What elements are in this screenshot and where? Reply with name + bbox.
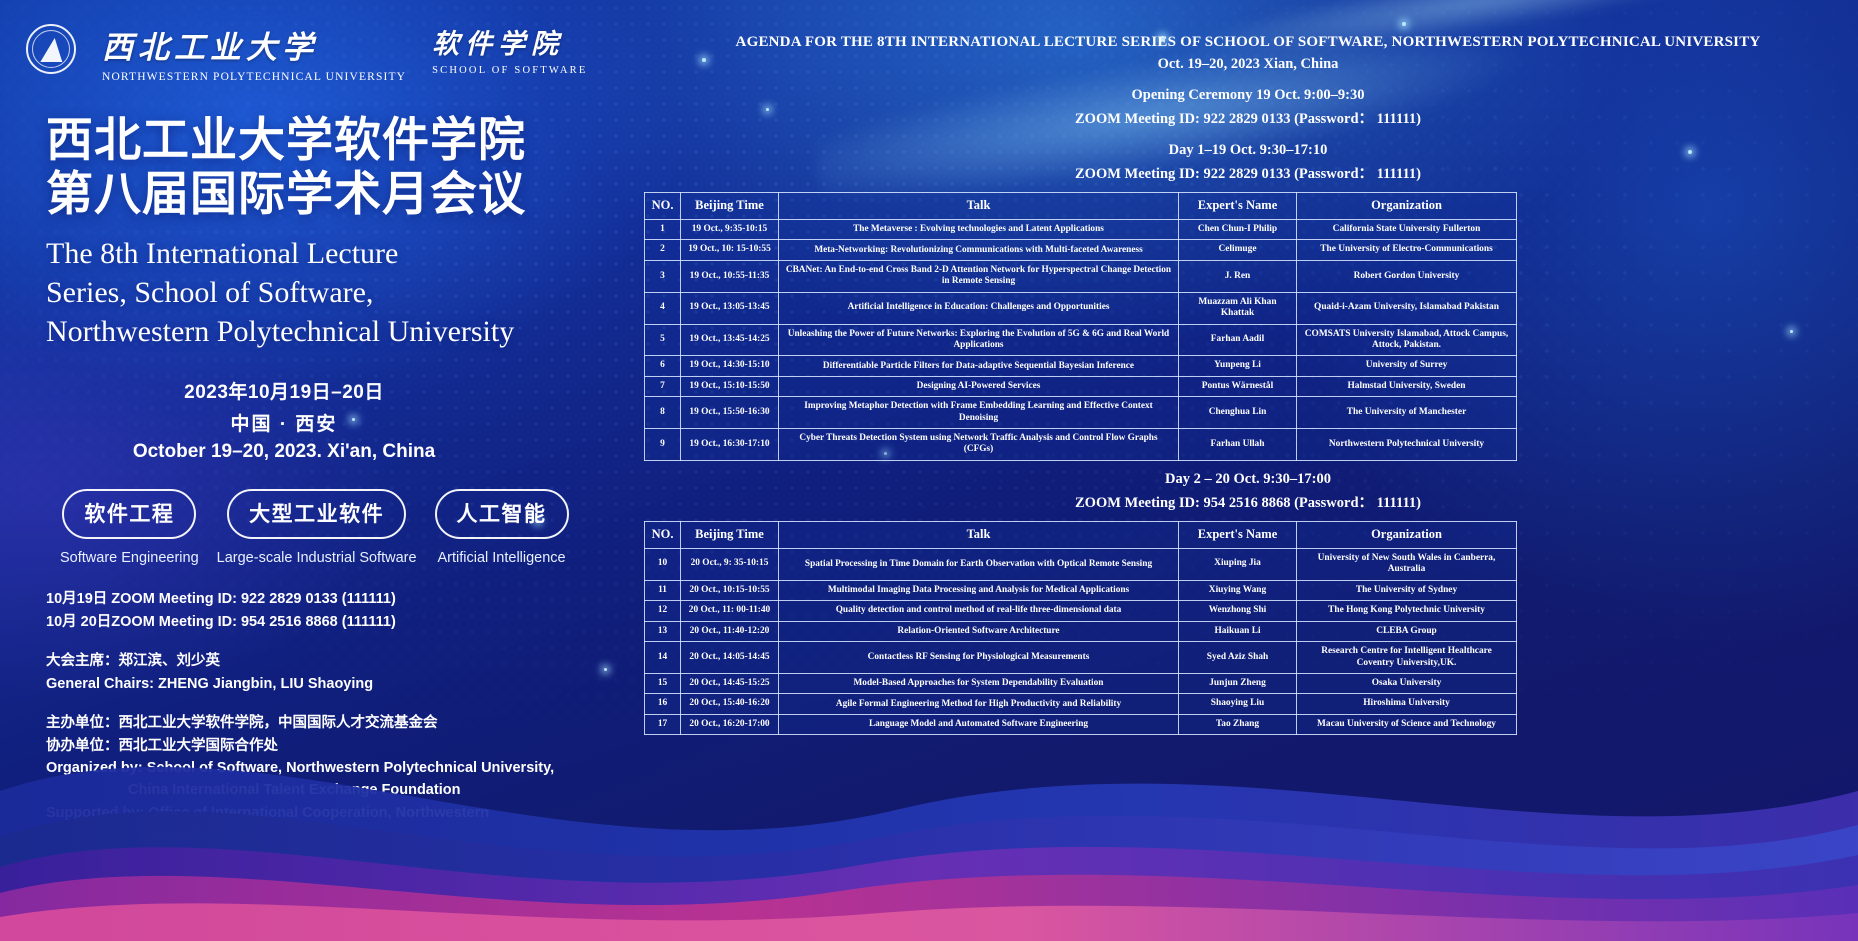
day2-zoom: ZOOM Meeting ID: 954 2516 8868 (Password… <box>638 491 1858 512</box>
column-header-expert: Expert's Name <box>1179 521 1297 548</box>
cell-organization: Macau University of Science and Technolo… <box>1297 714 1517 734</box>
cell-talk: Relation-Oriented Software Architecture <box>779 621 1179 641</box>
topic-item: 软件工程 Software Engineering <box>60 489 199 566</box>
column-header-time: Beijing Time <box>681 521 779 548</box>
cell-expert: Tao Zhang <box>1179 714 1297 734</box>
table-row: 1020 Oct., 9: 35-10:15Spatial Processing… <box>645 548 1517 580</box>
cell-talk: Cyber Threats Detection System using Net… <box>779 429 1179 461</box>
cell-organization: University of New South Wales in Canberr… <box>1297 548 1517 580</box>
day1-header: Day 1–19 Oct. 9:30–17:10 ZOOM Meeting ID… <box>638 142 1858 183</box>
cell-expert: Junjun Zheng <box>1179 674 1297 694</box>
cell-talk: Contactless RF Sensing for Physiological… <box>779 642 1179 674</box>
table-row: 919 Oct., 16:30-17:10Cyber Threats Detec… <box>645 429 1517 461</box>
cell-time: 20 Oct., 15:40-16:20 <box>681 694 779 714</box>
cell-expert: Farhan Ullah <box>1179 429 1297 461</box>
poster-title-en-line1: The 8th International Lecture <box>46 234 640 273</box>
cell-talk: The Metaverse : Evolving technologies an… <box>779 220 1179 240</box>
general-chairs-group: 大会主席：郑江滨、刘少英 General Chairs: ZHENG Jiang… <box>46 650 640 695</box>
topic-pill-en: Software Engineering <box>60 550 199 566</box>
general-chairs-en: General Chairs: ZHENG Jiangbin, LIU Shao… <box>46 673 640 695</box>
co-organizer-cn: 协办单位：西北工业大学国际合作处 <box>46 735 640 757</box>
poster-title-cn: 西北工业大学软件学院 第八届国际学术月会议 <box>46 113 640 220</box>
cell-no: 5 <box>645 324 681 356</box>
cell-no: 11 <box>645 580 681 600</box>
cell-no: 15 <box>645 674 681 694</box>
cell-talk: Meta-Networking: Revolutionizing Communi… <box>779 240 1179 260</box>
cell-time: 19 Oct., 9:35-10:15 <box>681 220 779 240</box>
cell-time: 19 Oct., 13:05-13:45 <box>681 292 779 324</box>
cell-talk: Quality detection and control method of … <box>779 601 1179 621</box>
topic-item: 大型工业软件 Large-scale Industrial Software <box>217 489 417 566</box>
cell-organization: University of Surrey <box>1297 356 1517 376</box>
zoom-info-line-2: 10月 20日ZOOM Meeting ID: 954 2516 8868 (1… <box>46 611 640 633</box>
cell-talk: Unleashing the Power of Future Networks:… <box>779 324 1179 356</box>
cell-organization: Northwestern Polytechnical University <box>1297 429 1517 461</box>
cell-organization: CLEBA Group <box>1297 621 1517 641</box>
table-row: 319 Oct., 10:55-11:35CBANet: An End-to-e… <box>645 260 1517 292</box>
table-header-row: NO. Beijing Time Talk Expert's Name Orga… <box>645 193 1517 220</box>
cell-no: 13 <box>645 621 681 641</box>
cell-talk: Differentiable Particle Filters for Data… <box>779 356 1179 376</box>
cell-expert: Xiuying Wang <box>1179 580 1297 600</box>
cell-organization: The University of Sydney <box>1297 580 1517 600</box>
agenda-table-day2-body: 1020 Oct., 9: 35-10:15Spatial Processing… <box>645 548 1517 735</box>
university-name-en: NORTHWESTERN POLYTECHNICAL UNIVERSITY <box>102 71 406 83</box>
topic-item: 人工智能 Artificial Intelligence <box>435 489 569 566</box>
cell-no: 17 <box>645 714 681 734</box>
agenda-table-day1-body: 119 Oct., 9:35-10:15The Metaverse : Evol… <box>645 220 1517 461</box>
cell-time: 20 Oct., 14:45-15:25 <box>681 674 779 694</box>
event-date-cn: 2023年10月19日–20日 <box>24 377 544 404</box>
cell-expert: Muazzam Ali Khan Khattak <box>1179 292 1297 324</box>
topic-pill-en: Artificial Intelligence <box>437 550 565 566</box>
table-header-row: NO. Beijing Time Talk Expert's Name Orga… <box>645 521 1517 548</box>
school-name-en: SCHOOL OF SOFTWARE <box>432 65 587 76</box>
cell-time: 20 Oct., 9: 35-10:15 <box>681 548 779 580</box>
cell-time: 20 Oct., 11:40-12:20 <box>681 621 779 641</box>
cell-no: 4 <box>645 292 681 324</box>
topic-pill-cn: 大型工业软件 <box>227 489 406 539</box>
topic-pill-cn: 软件工程 <box>62 489 196 539</box>
cell-expert: Farhan Aadil <box>1179 324 1297 356</box>
organized-by-en-cont: China International Talent Exchange Foun… <box>46 779 640 801</box>
cell-no: 6 <box>645 356 681 376</box>
table-row: 1420 Oct., 14:05-14:45Contactless RF Sen… <box>645 642 1517 674</box>
column-header-talk: Talk <box>779 193 1179 220</box>
university-seal-icon <box>26 24 76 74</box>
cell-organization: The University of Electro-Communications <box>1297 240 1517 260</box>
cell-talk: Model-Based Approaches for System Depend… <box>779 674 1179 694</box>
cell-expert: Yunpeng Li <box>1179 356 1297 376</box>
cell-talk: CBANet: An End-to-end Cross Band 2-D Att… <box>779 260 1179 292</box>
table-row: 1320 Oct., 11:40-12:20Relation-Oriented … <box>645 621 1517 641</box>
cell-time: 20 Oct., 10:15-10:55 <box>681 580 779 600</box>
cell-no: 12 <box>645 601 681 621</box>
cell-no: 3 <box>645 260 681 292</box>
poster-left-panel: 西北工业大学 NORTHWESTERN POLYTECHNICAL UNIVER… <box>0 0 640 941</box>
cell-expert: Wenzhong Shi <box>1179 601 1297 621</box>
cell-talk: Designing AI-Powered Services <box>779 376 1179 396</box>
cell-organization: Halmstad University, Sweden <box>1297 376 1517 396</box>
column-header-expert: Expert's Name <box>1179 193 1297 220</box>
day2-title: Day 2 – 20 Oct. 9:30–17:00 <box>638 471 1858 488</box>
cell-no: 7 <box>645 376 681 396</box>
cell-no: 2 <box>645 240 681 260</box>
cell-talk: Multimodal Imaging Data Processing and A… <box>779 580 1179 600</box>
cell-no: 9 <box>645 429 681 461</box>
organized-by-en: Organized by: School of Software, Northw… <box>46 757 640 779</box>
cell-time: 19 Oct., 14:30-15:10 <box>681 356 779 376</box>
table-row: 719 Oct., 15:10-15:50Designing AI-Powere… <box>645 376 1517 396</box>
cell-time: 20 Oct., 14:05-14:45 <box>681 642 779 674</box>
logo-row: 西北工业大学 NORTHWESTERN POLYTECHNICAL UNIVER… <box>24 22 640 83</box>
cell-no: 10 <box>645 548 681 580</box>
cell-time: 19 Oct., 10:55-11:35 <box>681 260 779 292</box>
topic-pill-cn: 人工智能 <box>435 489 569 539</box>
poster-title-cn-line2: 第八届国际学术月会议 <box>46 167 640 221</box>
cell-expert: Haikuan Li <box>1179 621 1297 641</box>
table-row: 1120 Oct., 10:15-10:55Multimodal Imaging… <box>645 580 1517 600</box>
opening-ceremony-line: Opening Ceremony 19 Oct. 9:00–9:30 <box>638 87 1858 104</box>
poster-info-block: 10月19日 ZOOM Meeting ID: 922 2829 0133 (1… <box>46 588 640 847</box>
table-row: 1620 Oct., 15:40-16:20Agile Formal Engin… <box>645 694 1517 714</box>
cell-talk: Agile Formal Engineering Method for High… <box>779 694 1179 714</box>
topic-pill-en: Large-scale Industrial Software <box>217 550 417 566</box>
table-row: 119 Oct., 9:35-10:15The Metaverse : Evol… <box>645 220 1517 240</box>
cell-expert: Chen Chun-I Philip <box>1179 220 1297 240</box>
agenda-header-line-1: AGENDA FOR THE 8TH INTERNATIONAL LECTURE… <box>638 34 1858 51</box>
cell-talk: Artificial Intelligence in Education: Ch… <box>779 292 1179 324</box>
university-name-cn: 西北工业大学 <box>102 22 406 67</box>
poster-title-en: The 8th International Lecture Series, Sc… <box>46 234 640 351</box>
cell-expert: Syed Aziz Shah <box>1179 642 1297 674</box>
cell-time: 19 Oct., 16:30-17:10 <box>681 429 779 461</box>
cell-organization: Quaid-i-Azam University, Islamabad Pakis… <box>1297 292 1517 324</box>
cell-expert: Celimuge <box>1179 240 1297 260</box>
cell-organization: Robert Gordon University <box>1297 260 1517 292</box>
poster-right-panel: AGENDA FOR THE 8TH INTERNATIONAL LECTURE… <box>638 0 1858 941</box>
cell-organization: Research Centre for Intelligent Healthca… <box>1297 642 1517 674</box>
table-row: 819 Oct., 15:50-16:30Improving Metaphor … <box>645 397 1517 429</box>
table-row: 419 Oct., 13:05-13:45Artificial Intellig… <box>645 292 1517 324</box>
poster-title-cn-line1: 西北工业大学软件学院 <box>46 113 640 167</box>
day2-header: Day 2 – 20 Oct. 9:30–17:00 ZOOM Meeting … <box>638 471 1858 512</box>
cell-expert: Chenghua Lin <box>1179 397 1297 429</box>
cell-no: 8 <box>645 397 681 429</box>
cell-organization: COMSATS University Islamabad, Attock Cam… <box>1297 324 1517 356</box>
cell-no: 16 <box>645 694 681 714</box>
cell-time: 20 Oct., 11: 00-11:40 <box>681 601 779 621</box>
conference-poster: 西北工业大学 NORTHWESTERN POLYTECHNICAL UNIVER… <box>0 0 1858 941</box>
university-logo: 西北工业大学 NORTHWESTERN POLYTECHNICAL UNIVER… <box>102 22 406 83</box>
cell-organization: Osaka University <box>1297 674 1517 694</box>
cell-no: 1 <box>645 220 681 240</box>
event-place-cn: 中国 · 西安 <box>24 409 544 436</box>
table-row: 619 Oct., 14:30-15:10Differentiable Part… <box>645 356 1517 376</box>
school-name-cn: 软件学院 <box>432 22 587 61</box>
column-header-org: Organization <box>1297 193 1517 220</box>
agenda-table-day1: NO. Beijing Time Talk Expert's Name Orga… <box>644 192 1517 461</box>
school-logo: 软件学院 SCHOOL OF SOFTWARE <box>432 22 587 76</box>
cell-talk: Improving Metaphor Detection with Frame … <box>779 397 1179 429</box>
cell-expert: Shaoying Liu <box>1179 694 1297 714</box>
poster-title-en-line2: Series, School of Software, <box>46 273 640 312</box>
column-header-no: NO. <box>645 193 681 220</box>
table-row: 519 Oct., 13:45-14:25Unleashing the Powe… <box>645 324 1517 356</box>
event-date-en: October 19–20, 2023. Xi'an, China <box>24 441 544 463</box>
cell-talk: Language Model and Automated Software En… <box>779 714 1179 734</box>
supported-by-en-cont: Polytechnical University <box>46 824 640 846</box>
cell-organization: Hiroshima University <box>1297 694 1517 714</box>
column-header-org: Organization <box>1297 521 1517 548</box>
cell-no: 14 <box>645 642 681 674</box>
supported-by-en: Supported by: Office of International Co… <box>46 802 640 824</box>
organizer-cn: 主办单位：西北工业大学软件学院，中国国际人才交流基金会 <box>46 712 640 734</box>
cell-time: 19 Oct., 13:45-14:25 <box>681 324 779 356</box>
day1-zoom: ZOOM Meeting ID: 922 2829 0133 (Password… <box>638 162 1858 183</box>
event-date-block: 2023年10月19日–20日 中国 · 西安 October 19–20, 2… <box>24 377 544 463</box>
column-header-no: NO. <box>645 521 681 548</box>
cell-time: 20 Oct., 16:20-17:00 <box>681 714 779 734</box>
column-header-time: Beijing Time <box>681 193 779 220</box>
cell-expert: J. Ren <box>1179 260 1297 292</box>
agenda-header: AGENDA FOR THE 8TH INTERNATIONAL LECTURE… <box>638 0 1858 128</box>
cell-organization: The University of Manchester <box>1297 397 1517 429</box>
table-row: 1520 Oct., 14:45-15:25Model-Based Approa… <box>645 674 1517 694</box>
cell-organization: The Hong Kong Polytechnic University <box>1297 601 1517 621</box>
cell-time: 19 Oct., 10: 15-10:55 <box>681 240 779 260</box>
cell-time: 19 Oct., 15:50-16:30 <box>681 397 779 429</box>
zoom-info-line-1: 10月19日 ZOOM Meeting ID: 922 2829 0133 (1… <box>46 588 640 610</box>
table-row: 219 Oct., 10: 15-10:55Meta-Networking: R… <box>645 240 1517 260</box>
opening-ceremony-zoom: ZOOM Meeting ID: 922 2829 0133 (Password… <box>638 107 1858 128</box>
poster-title-en-line3: Northwestern Polytechnical University <box>46 312 640 351</box>
table-row: 1220 Oct., 11: 00-11:40Quality detection… <box>645 601 1517 621</box>
day1-title: Day 1–19 Oct. 9:30–17:10 <box>638 142 1858 159</box>
general-chairs-cn: 大会主席：郑江滨、刘少英 <box>46 650 640 672</box>
cell-talk: Spatial Processing in Time Domain for Ea… <box>779 548 1179 580</box>
zoom-info-group: 10月19日 ZOOM Meeting ID: 922 2829 0133 (1… <box>46 588 640 633</box>
cell-expert: Pontus Wärnestål <box>1179 376 1297 396</box>
agenda-header-line-2: Oct. 19–20, 2023 Xian, China <box>638 56 1858 73</box>
cell-time: 19 Oct., 15:10-15:50 <box>681 376 779 396</box>
cell-expert: Xiuping Jia <box>1179 548 1297 580</box>
agenda-table-day2: NO. Beijing Time Talk Expert's Name Orga… <box>644 521 1517 736</box>
topic-pill-list: 软件工程 Software Engineering 大型工业软件 Large-s… <box>60 489 640 566</box>
cell-organization: California State University Fullerton <box>1297 220 1517 240</box>
organizers-group: 主办单位：西北工业大学软件学院，中国国际人才交流基金会 协办单位：西北工业大学国… <box>46 712 640 847</box>
table-row: 1720 Oct., 16:20-17:00Language Model and… <box>645 714 1517 734</box>
column-header-talk: Talk <box>779 521 1179 548</box>
